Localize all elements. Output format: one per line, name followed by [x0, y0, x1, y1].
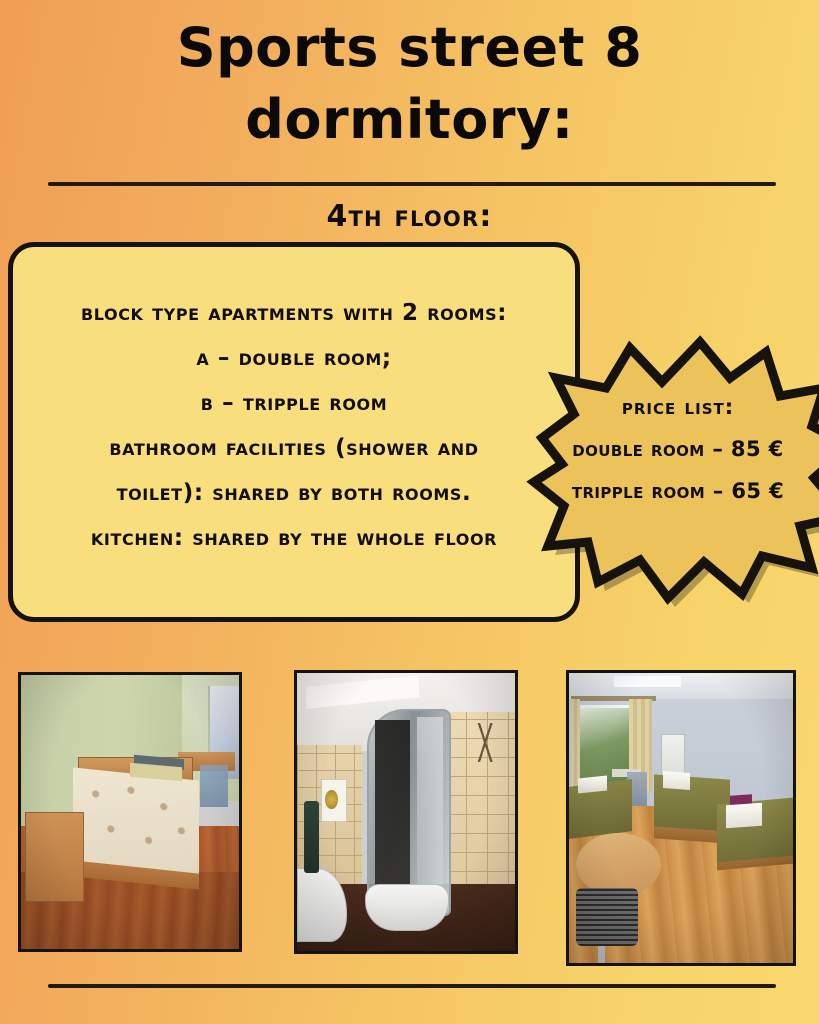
- shower-glass: [417, 717, 443, 889]
- poster-root: Sports street 8 dormitory: 4th floor: Bl…: [0, 0, 819, 1024]
- linen-stack-1: [663, 771, 690, 790]
- photo-dorm-single-bed-room: [18, 672, 242, 952]
- nightstand: [25, 812, 84, 902]
- title-line-1: Sports street 8: [0, 12, 819, 84]
- info-card-text: Block type apartments with 2 rooms: A – …: [13, 291, 575, 561]
- chair: [200, 765, 228, 806]
- towel: [304, 801, 319, 873]
- info-line-3: B – Tripple room: [13, 381, 575, 426]
- floor-subtitle: 4th floor:: [0, 198, 819, 236]
- info-line-2: A – double room;: [13, 336, 575, 381]
- ceiling: [569, 673, 793, 699]
- info-line-5: toilet): shared by both rooms.: [13, 471, 575, 516]
- info-line-1: Block type apartments with 2 rooms:: [13, 291, 575, 336]
- photo-1-scene: [21, 675, 239, 949]
- shower-tray: [365, 884, 450, 930]
- shower-interior: [375, 720, 410, 887]
- divider-bottom: [48, 984, 776, 988]
- curtain-left: [571, 699, 580, 786]
- photo-tripple-room: [566, 670, 796, 966]
- photo-shared-bathroom-shower: [294, 670, 518, 954]
- divider-top: [48, 182, 776, 186]
- linen-stack-2: [726, 802, 762, 828]
- mesh-chair: [576, 888, 639, 946]
- price-list-text: Price list: Double room – 85 € Tripple r…: [528, 386, 819, 512]
- price-item-double: Double room – 85 €: [528, 428, 819, 470]
- price-item-tripple: Tripple room – 65 €: [528, 470, 819, 512]
- info-line-4: Bathroom facilities (shower and: [13, 426, 575, 471]
- round-table: [576, 833, 661, 897]
- bed-pattern: [73, 767, 199, 873]
- bed-mattress: [73, 767, 199, 873]
- ceiling-light: [614, 676, 681, 688]
- info-card: Block type apartments with 2 rooms: A – …: [8, 242, 580, 622]
- page-title: Sports street 8 dormitory:: [0, 12, 819, 156]
- wall-hooks: [463, 723, 511, 762]
- photo-3-scene: [569, 673, 793, 963]
- price-list-heading: Price list:: [528, 386, 819, 428]
- photo-2-scene: [297, 673, 515, 951]
- info-line-6: Kitchen: shared by the whole floor: [13, 516, 575, 561]
- title-line-2: dormitory:: [0, 84, 819, 156]
- price-list-burst: Price list: Double room – 85 € Tripple r…: [528, 330, 819, 610]
